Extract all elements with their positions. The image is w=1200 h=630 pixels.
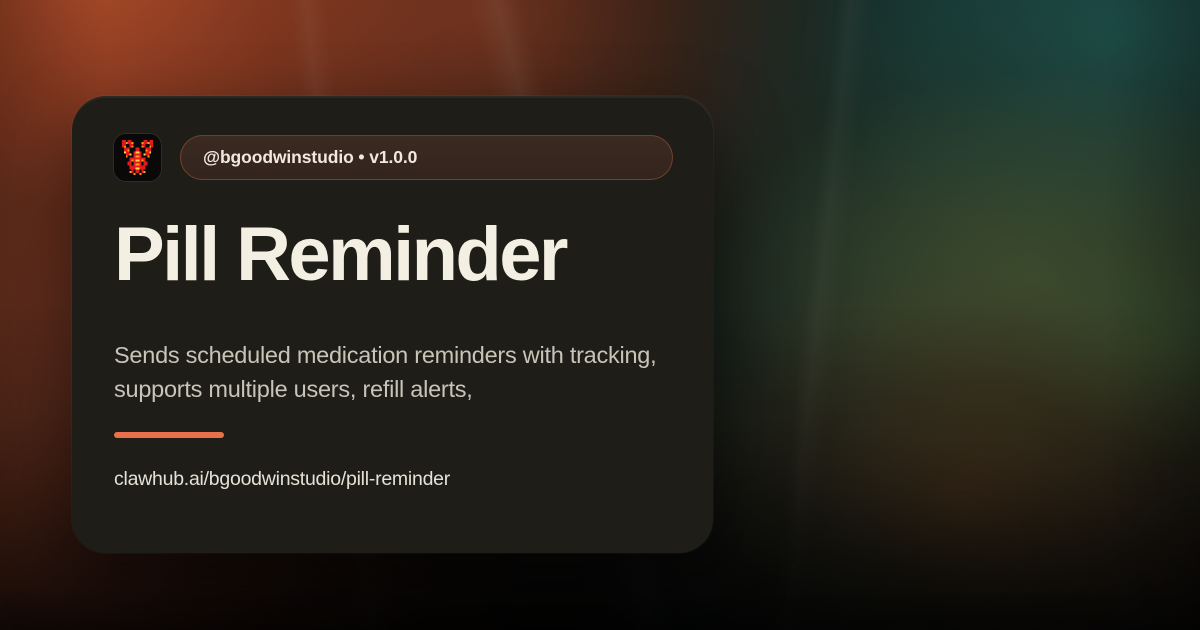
lobster-pixel-art-avatar-icon — [114, 134, 161, 181]
project-card: @bgoodwinstudio • v1.0.0 Pill Reminder S… — [72, 96, 713, 553]
project-description: Sends scheduled medication reminders wit… — [114, 338, 673, 406]
accent-bar — [114, 432, 224, 438]
card-header: @bgoodwinstudio • v1.0.0 — [114, 134, 673, 181]
page-title: Pill Reminder — [114, 215, 673, 294]
project-url: clawhub.ai/bgoodwinstudio/pill-reminder — [114, 468, 673, 491]
author-version-label: @bgoodwinstudio • v1.0.0 — [203, 147, 417, 168]
author-version-badge: @bgoodwinstudio • v1.0.0 — [180, 135, 673, 180]
og-card-root: @bgoodwinstudio • v1.0.0 Pill Reminder S… — [0, 0, 1200, 630]
